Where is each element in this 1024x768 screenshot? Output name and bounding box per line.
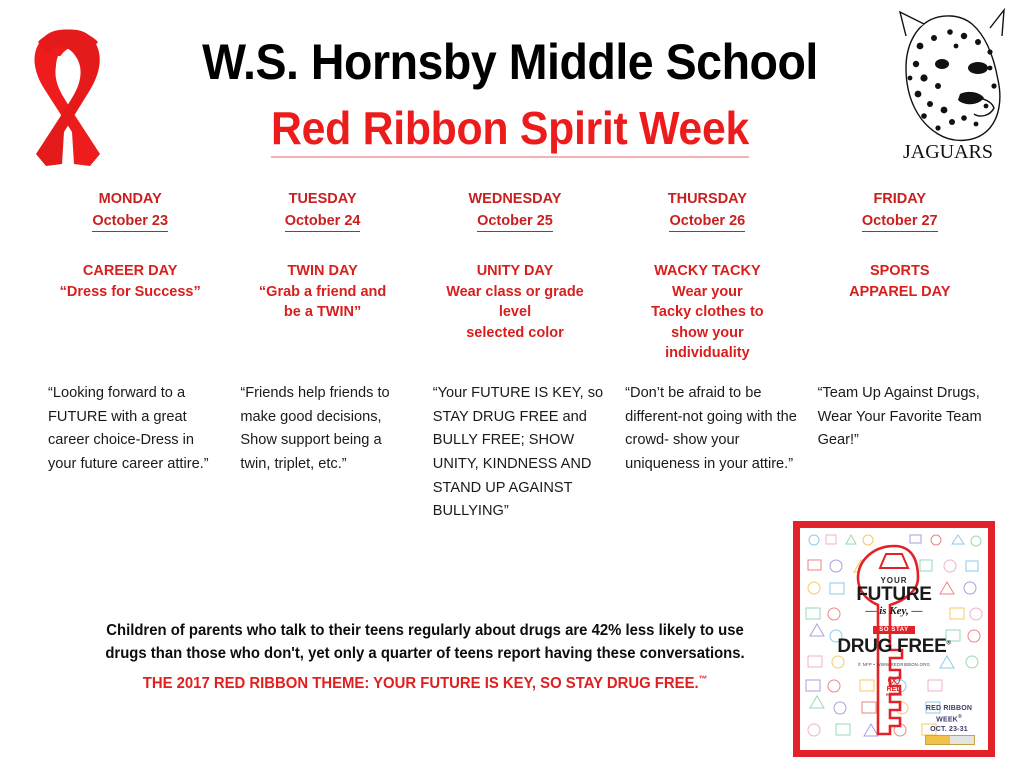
poster-artwork: YOUR FUTURE — is Key, — SO STAY DRUG FRE…	[800, 528, 988, 750]
day-header-monday: MONDAY October 23	[40, 188, 220, 233]
poster-brand-sub: RIBBON	[800, 693, 988, 697]
poster-week-line3: OCT. 23-31	[916, 725, 982, 734]
day-column-wednesday: WEDNESDAY October 25 UNITY DAY Wear clas…	[419, 188, 611, 343]
quote-column-thursday: “Don’t be afraid to be different-not goi…	[611, 382, 803, 477]
poster-line-is-key: — is Key, —	[800, 604, 988, 618]
spirit-week-schedule: MONDAY October 23 CAREER DAY “Dress for …	[34, 188, 996, 364]
date-label: October 27	[862, 212, 938, 231]
quote-text: “Team Up Against Drugs, Wear Your Favori…	[810, 382, 990, 453]
quote-column-wednesday: “Your FUTURE IS KEY, so STAY DRUG FREE a…	[419, 382, 611, 524]
date-label: October 23	[92, 212, 168, 231]
day-column-monday: MONDAY October 23 CAREER DAY “Dress for …	[34, 188, 226, 302]
theme-line: Wear class or grade	[425, 282, 605, 303]
day-header-tuesday: TUESDAY October 24	[232, 188, 412, 233]
footer-theme-text: THE 2017 RED RIBBON THEME: YOUR FUTURE I…	[143, 675, 699, 692]
poster-ribbon-icon	[884, 676, 904, 685]
red-ribbon-spirit-week-flyer: W.S. Hornsby Middle School Red Ribbon Sp…	[0, 0, 1024, 768]
poster-week-line1: RED RIBBON	[916, 704, 982, 713]
quote-column-tuesday: “Friends help friends to make good decis…	[226, 382, 418, 477]
quote-text: “Friends help friends to make good decis…	[232, 382, 412, 477]
theme-line: “Grab a friend and	[232, 282, 412, 303]
spirit-week-quotes: “Looking forward to a FUTURE with a grea…	[34, 382, 996, 524]
quote-column-monday: “Looking forward to a FUTURE with a grea…	[34, 382, 226, 477]
poster-sponsor-badge	[925, 735, 975, 745]
day-header-wednesday: WEDNESDAY October 25	[425, 188, 605, 233]
poster-week-dates: RED RIBBON WEEK® OCT. 23-31	[916, 704, 982, 734]
weekday-label: THURSDAY	[617, 188, 797, 210]
date-label: October 25	[477, 212, 553, 231]
poster-brand-mark: RED RIBBON	[800, 676, 988, 697]
theme-line: show your	[617, 323, 797, 344]
theme-line: selected color	[425, 323, 605, 344]
theme-line: Wear your	[617, 282, 797, 303]
quote-column-friday: “Team Up Against Drugs, Wear Your Favori…	[804, 382, 996, 453]
theme-wednesday: UNITY DAY Wear class or grade level sele…	[425, 261, 605, 343]
weekday-label: MONDAY	[40, 188, 220, 210]
footer-theme-statement: THE 2017 RED RIBBON THEME: YOUR FUTURE I…	[84, 673, 766, 695]
date-label: October 24	[285, 212, 361, 231]
mascot-label: JAGUARS	[903, 141, 993, 163]
poster-drug-free-text: DRUG FREE	[837, 636, 946, 657]
poster-is-key-text: is Key,	[879, 605, 909, 617]
theme-name: WACKY TACKY	[617, 261, 797, 282]
day-header-friday: FRIDAY October 27	[810, 188, 990, 233]
date-label: October 26	[669, 212, 745, 231]
theme-tuesday: TWIN DAY “Grab a friend and be a TWIN”	[232, 261, 412, 323]
poster-week-mark: ®	[958, 714, 962, 720]
event-title: Red Ribbon Spirit Week	[157, 104, 864, 158]
event-title-text: Red Ribbon Spirit Week	[271, 104, 749, 158]
poster-registered-mark: ®	[947, 641, 951, 647]
weekday-label: WEDNESDAY	[425, 188, 605, 210]
theme-line: Tacky clothes to	[617, 302, 797, 323]
day-column-tuesday: TUESDAY October 24 TWIN DAY “Grab a frie…	[226, 188, 418, 323]
theme-line: be a TWIN”	[232, 302, 412, 323]
theme-monday: CAREER DAY “Dress for Success”	[40, 261, 220, 302]
day-column-thursday: THURSDAY October 26 WACKY TACKY Wear you…	[611, 188, 803, 364]
quote-text: “Looking forward to a FUTURE with a grea…	[40, 382, 220, 477]
poster-week-line2: WEEK®	[916, 714, 982, 725]
theme-name: CAREER DAY	[40, 261, 220, 282]
red-ribbon-week-poster: YOUR FUTURE — is Key, — SO STAY DRUG FRE…	[793, 521, 995, 757]
poster-brand: RED	[800, 686, 988, 693]
poster-credit: © NFP • WWW.REDRIBBON.ORG	[800, 662, 988, 667]
theme-line: APPAREL DAY	[810, 282, 990, 303]
trademark-mark: ™	[699, 674, 708, 684]
footer: Children of parents who talk to their te…	[70, 620, 780, 695]
red-ribbon-icon	[12, 14, 124, 176]
weekday-label: TUESDAY	[232, 188, 412, 210]
jaguar-mascot-icon: JAGUARS	[890, 6, 1010, 166]
quote-text: “Your FUTURE IS KEY, so STAY DRUG FREE a…	[425, 382, 605, 524]
theme-line: individuality	[617, 343, 797, 364]
theme-thursday: WACKY TACKY Wear your Tacky clothes to s…	[617, 261, 797, 364]
poster-line-future: FUTURE	[800, 585, 988, 604]
theme-name: SPORTS	[810, 261, 990, 282]
day-column-friday: FRIDAY October 27 SPORTS APPAREL DAY	[804, 188, 996, 302]
theme-friday: SPORTS APPAREL DAY	[810, 261, 990, 302]
page-title: W.S. Hornsby Middle School	[157, 36, 864, 89]
poster-line-so-stay: SO STAY	[873, 626, 915, 634]
theme-name: UNITY DAY	[425, 261, 605, 282]
theme-line: “Dress for Success”	[40, 282, 220, 303]
footer-statistic: Children of parents who talk to their te…	[84, 620, 766, 665]
quote-text: “Don’t be afraid to be different-not goi…	[617, 382, 797, 477]
poster-week-text: WEEK	[936, 716, 958, 723]
day-header-thursday: THURSDAY October 26	[617, 188, 797, 233]
poster-line-drug-free: DRUG FREE®	[800, 636, 988, 658]
weekday-label: FRIDAY	[810, 188, 990, 210]
theme-line: level	[425, 302, 605, 323]
theme-name: TWIN DAY	[232, 261, 412, 282]
